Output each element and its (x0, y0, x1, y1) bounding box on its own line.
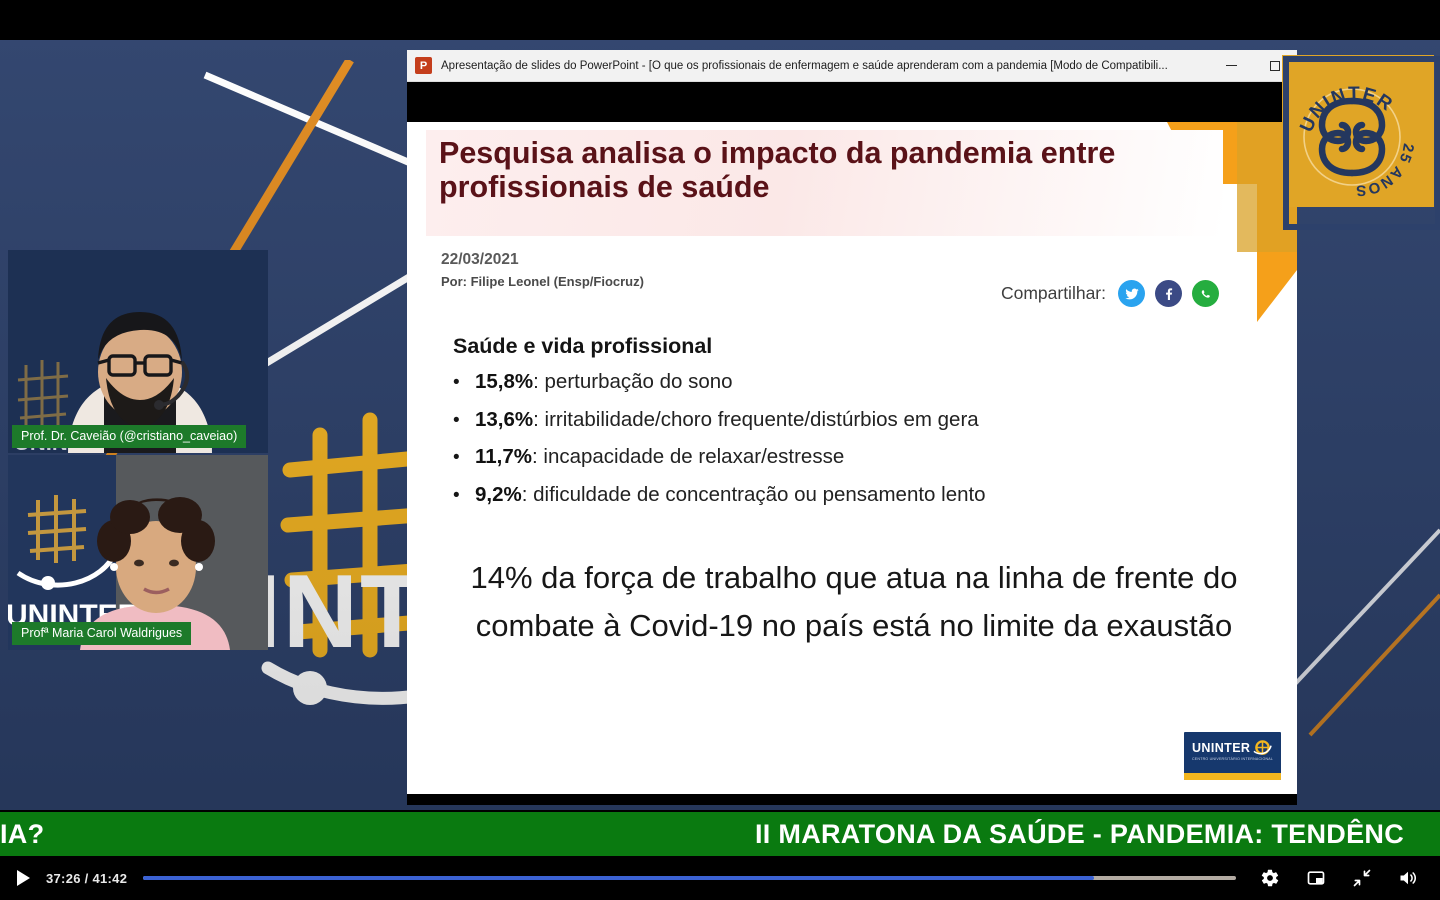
progress-bar[interactable] (143, 876, 1236, 880)
play-button[interactable] (0, 856, 46, 900)
maximize-icon (1270, 61, 1280, 71)
bullet-text: : incapacidade de relaxar/estresse (532, 445, 844, 469)
list-item: • 9,2% : dificuldade de concentração ou … (453, 483, 1243, 507)
share-label: Compartilhar: (1001, 283, 1106, 304)
play-icon (15, 869, 31, 887)
slide-canvas[interactable]: Pesquisa analisa o impacto da pandemia e… (407, 122, 1297, 794)
facebook-icon[interactable] (1155, 280, 1182, 307)
participant-name-2: Profª Maria Carol Waldrigues (12, 622, 191, 645)
video-player-controls[interactable]: 37:26 / 41:42 (0, 856, 1440, 900)
powerpoint-icon: P (415, 57, 432, 74)
background-watermark-text: INT (252, 560, 426, 664)
uninter-globe-icon (1253, 739, 1272, 758)
shared-screen-video[interactable]: INT P Apresentação de slides do PowerPoi… (0, 0, 1440, 810)
slide-bullet-list: • 15,8% : perturbação do sono • 13,6% : … (453, 370, 1243, 520)
exit-fullscreen-button[interactable] (1350, 866, 1374, 890)
minimize-button[interactable] (1209, 50, 1253, 81)
banner-main-text: II MARATONA DA SAÚDE - PANDEMIA: TENDÊNC (755, 819, 1404, 850)
bullet-dot-icon: • (453, 486, 475, 505)
list-item: • 15,8% : perturbação do sono (453, 370, 1243, 394)
participant-video-2: UNINTER (8, 455, 268, 650)
bullet-text: : perturbação do sono (533, 370, 732, 394)
participant-tile-2[interactable]: UNINTER Profª Maria Carol Waldrigues (8, 455, 268, 650)
uninter-logo-bar (1184, 773, 1281, 780)
bullet-dot-icon: • (453, 373, 475, 392)
participant-tile-1[interactable]: UNINTER Prof. Dr. Caveião (@cristiano_ca… (8, 250, 268, 453)
slide-section-heading: Saúde e vida profissional (453, 334, 712, 359)
screen-share-stage: INT P Apresentação de slides do PowerPoi… (0, 0, 1440, 900)
settings-button[interactable] (1258, 866, 1282, 890)
time-display: 37:26 / 41:42 (46, 871, 127, 886)
bullet-percent: 9,2% (475, 483, 522, 507)
bullet-percent: 13,6% (475, 408, 533, 432)
lower-third-banner: IA? II MARATONA DA SAÚDE - PANDEMIA: TEN… (0, 812, 1440, 856)
powerpoint-window-title: Apresentação de slides do PowerPoint - [… (441, 60, 1209, 72)
minimize-icon (1226, 65, 1237, 67)
list-item: • 13,6% : irritabilidade/choro frequente… (453, 408, 1243, 432)
bullet-dot-icon: • (453, 448, 475, 467)
uninter-25-anos-icon: UNINTER 25 ANOS (1282, 55, 1440, 230)
exit-fullscreen-icon (1352, 868, 1372, 888)
bullet-text: : dificuldade de concentração ou pensame… (522, 483, 986, 507)
uninter-25-anos-badge: UNINTER 25 ANOS (1282, 55, 1440, 230)
powerpoint-titlebar[interactable]: P Apresentação de slides do PowerPoint -… (407, 50, 1297, 82)
slide-letterbox-top (407, 82, 1297, 122)
powerpoint-window[interactable]: P Apresentação de slides do PowerPoint -… (407, 50, 1297, 805)
progress-fill (143, 876, 1094, 880)
slide-letterbox-bottom (407, 794, 1297, 805)
banner-left-text: IA? (0, 819, 44, 850)
participant-name-1: Prof. Dr. Caveião (@cristiano_caveiao) (12, 425, 246, 448)
miniplayer-icon (1306, 868, 1326, 888)
twitter-icon[interactable] (1118, 280, 1145, 307)
uninter-slide-logo: UNINTER CENTRO UNIVERSITÁRIO INTERNACION… (1184, 732, 1281, 780)
player-right-controls (1258, 866, 1440, 890)
whatsapp-icon[interactable] (1192, 280, 1219, 307)
bullet-percent: 15,8% (475, 370, 533, 394)
miniplayer-button[interactable] (1304, 866, 1328, 890)
gear-icon (1260, 868, 1280, 888)
volume-button[interactable] (1396, 866, 1420, 890)
bullet-dot-icon: • (453, 411, 475, 430)
slide-big-statement: 14% da força de trabalho que atua na lin… (469, 554, 1239, 651)
participant-video-1: UNINTER (8, 250, 268, 453)
slide-date: 22/03/2021 (441, 251, 519, 269)
bullet-text: : irritabilidade/choro frequente/distúrb… (533, 408, 979, 432)
list-item: • 11,7% : incapacidade de relaxar/estres… (453, 445, 1243, 469)
slide-author: Por: Filipe Leonel (Ensp/Fiocruz) (441, 274, 644, 289)
slide-title: Pesquisa analisa o impacto da pandemia e… (439, 136, 1209, 204)
share-row: Compartilhar: (1001, 280, 1219, 307)
bullet-percent: 11,7% (475, 445, 532, 469)
volume-icon (1397, 868, 1419, 888)
